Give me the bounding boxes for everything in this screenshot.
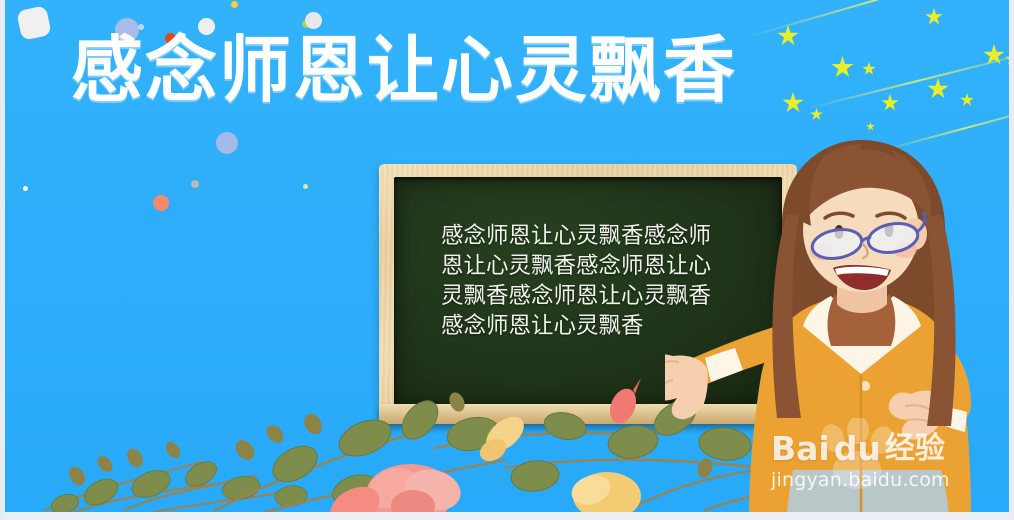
paw-icon	[811, 418, 903, 492]
pink-bud	[605, 378, 641, 427]
confetti-dot	[191, 180, 199, 188]
confetti-dot	[305, 12, 322, 29]
confetti-dot	[153, 195, 169, 211]
page-title: 感念师恩让心灵飘香	[71, 34, 737, 106]
poster-canvas: 感念师恩让心灵飘香 感念师恩让心灵飘香感念师恩让心灵飘香感念师恩让心灵飘香感念师…	[0, 0, 1014, 520]
confetti-dot	[303, 184, 308, 189]
confetti-dot	[23, 186, 28, 191]
confetti-dot	[231, 1, 238, 8]
confetti-dot	[216, 132, 238, 154]
left-hand	[665, 354, 708, 419]
